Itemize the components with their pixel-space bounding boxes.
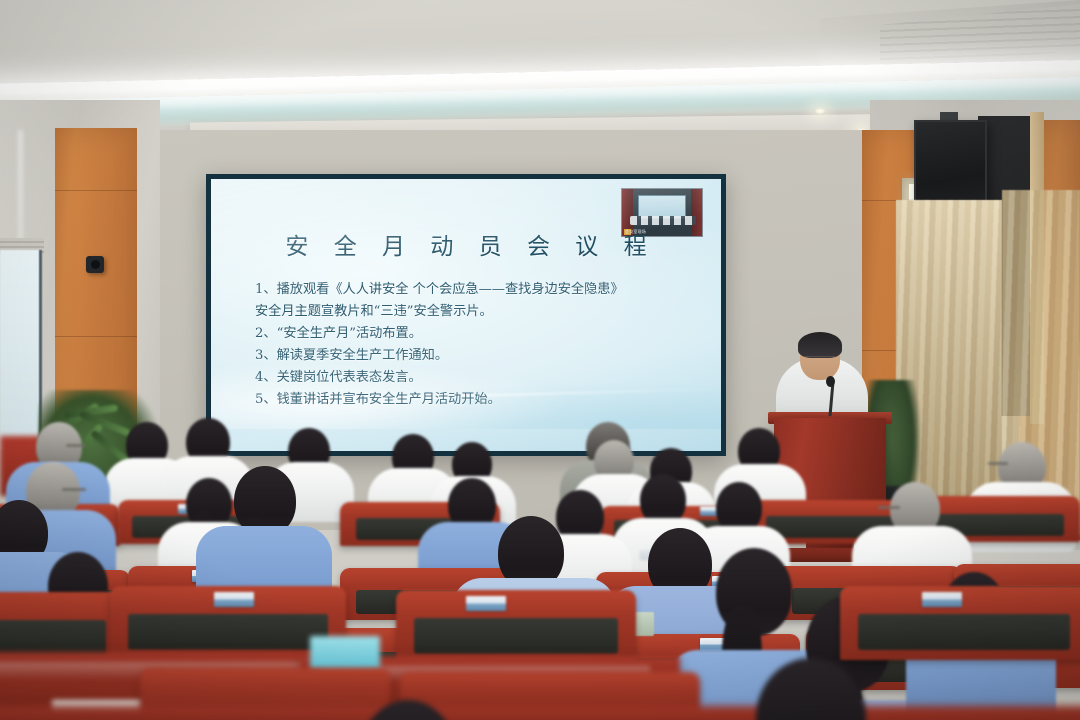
slide-agenda-list: 1、播放观看《人人讲安全 个个会应急——查找身边安全隐患》 安全月主题宣教片和“… [255, 279, 703, 411]
conference-room-photo: 会议室现场 安 全 月 动 员 会 议 程 1、播放观看《人人讲安全 个个会应急… [0, 0, 1080, 720]
presenter-glasses-icon [804, 356, 835, 361]
agenda-line-3: 3、解读夏季安全生产工作通知。 [255, 345, 703, 367]
downlight-icon [815, 108, 825, 114]
agenda-line-1: 1、播放观看《人人讲安全 个个会应急——查找身边安全隐患》 [255, 279, 703, 301]
agenda-line-1-cont: 安全月主题宣教片和“三违”安全警示片。 [255, 301, 703, 323]
slide-title: 安 全 月 动 员 会 议 程 [211, 227, 721, 261]
agenda-line-2: 2、“安全生产月”活动布置。 [255, 323, 703, 345]
wall-camera-icon [86, 256, 104, 273]
pip-audience-row [630, 216, 696, 225]
microphone-icon [826, 376, 835, 387]
audience-seating-area [0, 400, 1080, 720]
presenter-hair [798, 332, 842, 358]
agenda-line-4: 4、关键岗位代表表态发言。 [255, 367, 703, 389]
